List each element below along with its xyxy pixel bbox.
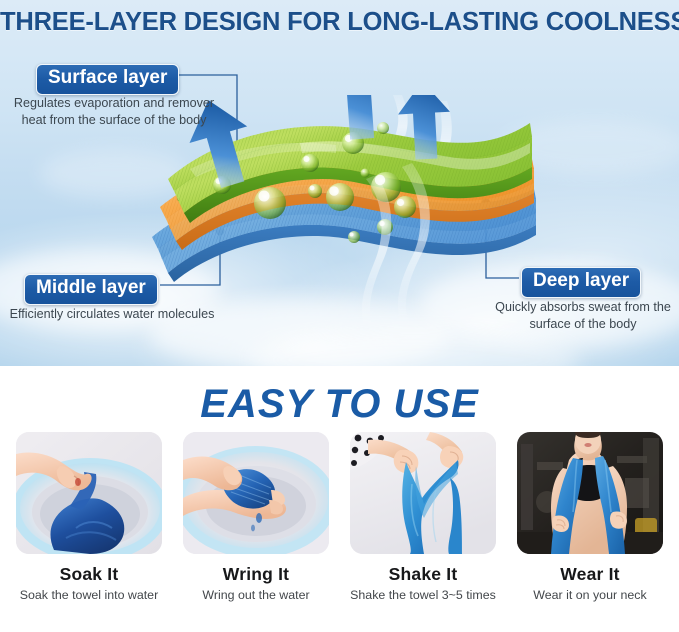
usage-steps-list: Soak It Soak the towel into water	[0, 432, 679, 632]
step-title: Wear It	[560, 564, 619, 585]
photo-hands-shaking-towel	[350, 432, 496, 554]
easy-to-use-heading: EASY TO USE	[0, 382, 679, 427]
usage-step-shake-it: Shake It Shake the towel 3~5 times	[342, 432, 505, 632]
product-infographic: THREE-LAYER DESIGN FOR LONG-LASTING COOL…	[0, 0, 679, 631]
callout-description-surface-layer: Regulates evaporation and remover heat f…	[8, 95, 220, 128]
photo-hands-wringing-towel	[183, 432, 329, 554]
step-description: Wear it on your neck	[533, 588, 646, 604]
callout-description-deep-layer: Quickly absorbs sweat from the surface o…	[487, 299, 679, 332]
callout-label-surface-layer: Surface layer	[36, 64, 179, 95]
callout-description-middle-layer: Efficiently circulates water molecules	[4, 306, 220, 323]
step-title: Soak It	[60, 564, 119, 585]
step-title: Wring It	[223, 564, 289, 585]
three-layer-fabric-diagram	[150, 95, 540, 330]
three-layer-design-section: THREE-LAYER DESIGN FOR LONG-LASTING COOL…	[0, 0, 679, 366]
usage-step-soak-it: Soak It Soak the towel into water	[8, 432, 171, 632]
callout-label-deep-layer: Deep layer	[521, 267, 641, 298]
step-description: Wring out the water	[202, 588, 309, 604]
step-description: Shake the towel 3~5 times	[350, 588, 496, 604]
usage-step-wring-it: Wring It Wring out the water	[175, 432, 338, 632]
step-description: Soak the towel into water	[20, 588, 158, 604]
usage-step-wear-it: Wear It Wear it on your neck	[509, 432, 672, 632]
callout-label-middle-layer: Middle layer	[24, 274, 158, 305]
easy-to-use-section: EASY TO USE	[0, 366, 679, 631]
photo-woman-wearing-towel-on-neck	[517, 432, 663, 554]
step-title: Shake It	[389, 564, 458, 585]
photo-hand-soaking-towel-in-basin	[16, 432, 162, 554]
